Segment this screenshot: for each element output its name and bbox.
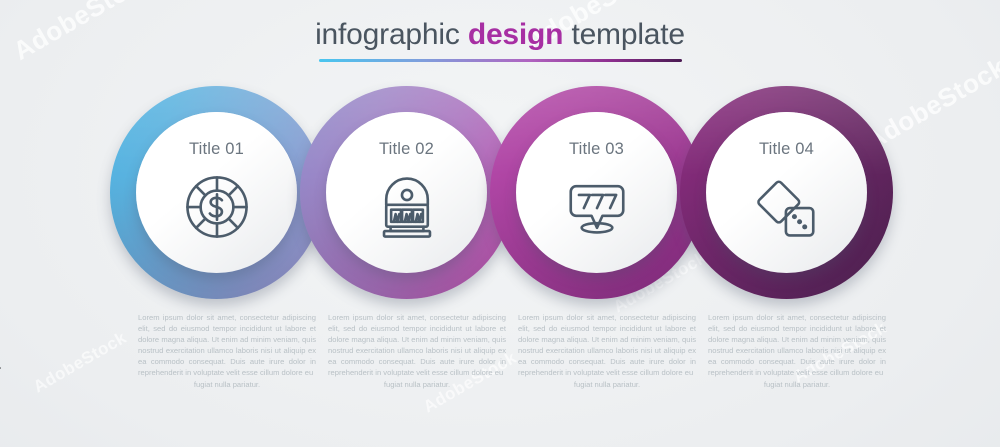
step-title-1: Title 01 [136,140,297,159]
step-description-4: Lorem ipsum dolor sit amet, consectetur … [708,312,886,390]
title-word-template: template [571,18,684,51]
description-last-line: fugiat nulla pariatur. [138,379,316,390]
description-body: Lorem ipsum dolor sit amet, consectetur … [138,313,316,377]
description-body: Lorem ipsum dolor sit amet, consectetur … [708,313,886,377]
description-body: Lorem ipsum dolor sit amet, consectetur … [518,313,696,377]
descriptions-row: Lorem ipsum dolor sit amet, consectetur … [0,312,1000,417]
step-title-3: Title 03 [516,140,677,159]
slot-machine-icon [372,172,442,242]
lucky-777-bubble-icon [562,172,632,242]
page-title: infographic design template [0,18,1000,51]
casino-chip-dollar-icon [182,172,252,242]
step-disc-1[interactable]: Title 01 [136,112,297,273]
description-last-line: fugiat nulla pariatur. [328,379,506,390]
title-word-design: design [468,18,563,51]
step-disc-4[interactable]: Title 04 [706,112,867,273]
step-disc-2[interactable]: Title 02 [326,112,487,273]
step-description-1: Lorem ipsum dolor sit amet, consectetur … [138,312,316,390]
header: infographic design template [0,18,1000,62]
title-underline-rule [319,59,682,62]
description-last-line: fugiat nulla pariatur. [708,379,886,390]
step-node-1[interactable]: Title 01 [110,86,323,299]
step-title-2: Title 02 [326,140,487,159]
infographic-canvas: AdobeStock AdobeStock AdobeStock AdobeSt… [0,0,1000,447]
two-dice-icon [752,172,822,242]
description-last-line: fugiat nulla pariatur. [518,379,696,390]
title-word-infographic: infographic [315,18,460,51]
step-disc-3[interactable]: Title 03 [516,112,677,273]
step-description-3: Lorem ipsum dolor sit amet, consectetur … [518,312,696,390]
description-body: Lorem ipsum dolor sit amet, consectetur … [328,313,506,377]
step-description-2: Lorem ipsum dolor sit amet, consectetur … [328,312,506,390]
step-title-4: Title 04 [706,140,867,159]
step-node-4[interactable]: Title 04 [680,86,893,299]
step-node-2[interactable]: Title 02 [300,86,513,299]
step-node-3[interactable]: Title 03 [490,86,703,299]
steps-row: Title 01 [0,86,1000,301]
